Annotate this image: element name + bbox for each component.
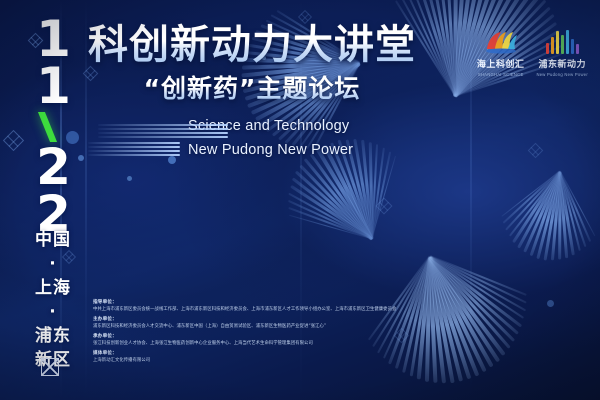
shanghai-logo-cn: 海上科创汇 <box>477 57 525 70</box>
credit-text: 张江科技创新创业人才协会、上海张江生物医药创新中心企业服务中心、上海当代艺术生命… <box>93 340 423 348</box>
credit-text: 中共上海市浦东新区委员会统一战线工作部、上海市浦东新区科技和经济委员会、上海市浦… <box>93 306 423 314</box>
event-poster: 1 1 2 2 中国 · 上海 · 浦东 新区 科创新动力大讲堂 “创新药”主题… <box>0 0 600 400</box>
credit-label: 指导单位： <box>93 299 423 306</box>
credit-entry: 媒体单位： 上海新动汇文化传播有限公司 <box>93 350 423 365</box>
shanghai-science-logo: 海上科创汇 SHANGHAI SCIENCE <box>477 28 525 77</box>
date-digit-1: 1 <box>22 16 84 63</box>
flame-logo-icon <box>484 28 518 54</box>
sub-title: “创新药”主题论坛 <box>88 74 416 104</box>
accent-bars-icon <box>88 142 180 158</box>
credit-label: 承办单位： <box>93 333 423 340</box>
credit-text: 上海新动汇文化传播有限公司 <box>93 357 423 365</box>
location-dot-1: · <box>22 252 84 276</box>
event-date: 1 1 2 2 <box>22 16 84 238</box>
credit-entry: 主办单位： 浦东新区科技和经济委员会人才交流中心、浦东新区中国（上海）自由贸易试… <box>93 316 423 331</box>
location-line-2: 上海 <box>22 276 84 300</box>
logo-group: 海上科创汇 SHANGHAI SCIENCE 浦东新动力 New Pudong … <box>477 28 588 77</box>
event-location: 中国 · 上海 · 浦东 新区 <box>22 228 84 372</box>
pudong-power-logo: 浦东新动力 New Pudong New Power <box>536 28 588 77</box>
location-dot-2: · <box>22 300 84 324</box>
x-diamond-icon <box>41 358 59 376</box>
pudong-logo-en: New Pudong New Power <box>536 72 588 77</box>
location-line-1: 中国 <box>22 228 84 252</box>
credit-text: 浦东新区科技和经济委员会人才交流中心、浦东新区中国（上海）自由贸易试验区、浦东新… <box>93 323 423 331</box>
shanghai-logo-en: SHANGHAI SCIENCE <box>478 72 524 77</box>
date-digit-2: 1 <box>22 63 84 110</box>
color-bars-logo-icon <box>546 28 579 54</box>
pudong-logo-cn: 浦东新动力 <box>538 57 586 70</box>
date-digit-3: 2 <box>22 144 84 191</box>
accent-bars-icon-top <box>98 124 228 140</box>
credit-label: 媒体单位： <box>93 350 423 357</box>
title-block: 科创新动力大讲堂 “创新药”主题论坛 Science and Technolog… <box>88 22 416 159</box>
location-line-3: 浦东 <box>22 324 84 348</box>
main-title: 科创新动力大讲堂 <box>88 22 416 68</box>
credits-block: 指导单位： 中共上海市浦东新区委员会统一战线工作部、上海市浦东新区科技和经济委员… <box>93 299 423 367</box>
credit-entry: 承办单位： 张江科技创新创业人才协会、上海张江生物医药创新中心企业服务中心、上海… <box>93 333 423 348</box>
credit-entry: 指导单位： 中共上海市浦东新区委员会统一战线工作部、上海市浦东新区科技和经济委员… <box>93 299 423 314</box>
credit-label: 主办单位： <box>93 316 423 323</box>
date-separator-slash <box>22 110 84 144</box>
english-line-2: New Pudong New Power <box>188 142 353 158</box>
